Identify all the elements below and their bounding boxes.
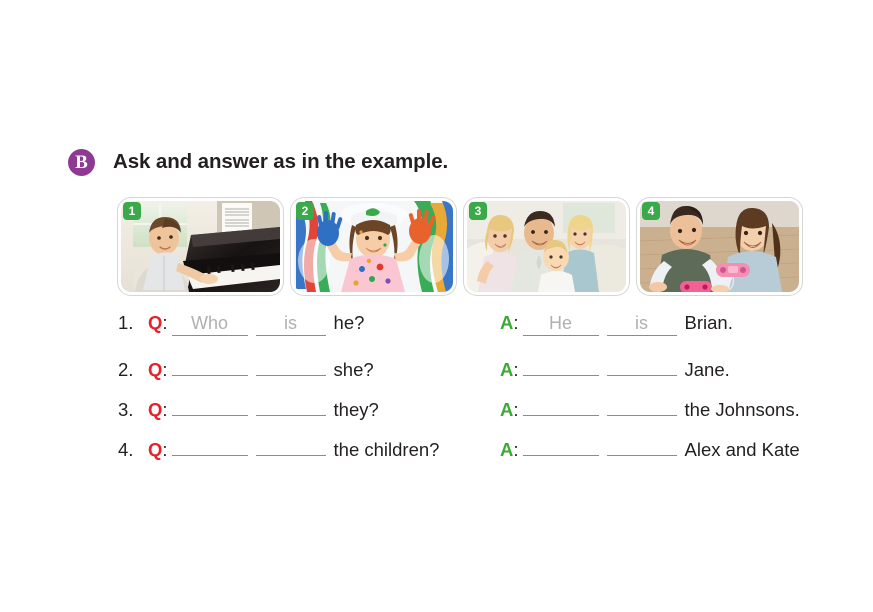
photo-art-boy-piano	[121, 201, 280, 292]
photo-number-badge-2: 2	[296, 202, 314, 220]
question-colon: :	[162, 359, 167, 381]
photo-inner-3	[467, 201, 626, 292]
question-colon: :	[162, 439, 167, 461]
picture-strip: 1	[118, 198, 802, 295]
question-marker: Q	[148, 359, 162, 381]
answer-blank-2[interactable]	[607, 432, 677, 456]
question-marker: Q	[148, 399, 162, 421]
answer-colon: :	[513, 312, 518, 334]
row-number: 4.	[118, 439, 148, 461]
answer-blank-2[interactable]: is	[607, 312, 677, 336]
answer-tail: the Johnsons.	[685, 399, 800, 421]
exercise-header: B Ask and answer as in the example.	[68, 146, 448, 178]
question-tail: they?	[334, 399, 379, 421]
question-colon: :	[162, 312, 167, 334]
photo-inner-2	[294, 201, 453, 292]
answer-blank-2[interactable]	[607, 392, 677, 416]
question-blank-2[interactable]	[256, 392, 326, 416]
answer-side-3: A : the Johnsons.	[500, 392, 800, 421]
row-number: 1.	[118, 312, 148, 334]
answer-side-2: A : Jane.	[500, 352, 730, 381]
qa-row-2: 2. Q : she? A : Jane.	[118, 352, 818, 392]
photo-card-3[interactable]: 3	[464, 198, 629, 295]
answer-tail: Brian.	[685, 312, 733, 334]
photo-art-family	[467, 201, 626, 292]
answer-side-4: A : Alex and Kate	[500, 432, 800, 461]
question-side-2: Q : she?	[148, 352, 500, 381]
qa-row-3: 3. Q : they? A : the Johnsons.	[118, 392, 818, 432]
photo-number-badge-4: 4	[642, 202, 660, 220]
photo-number-badge-3: 3	[469, 202, 487, 220]
qa-row-1: 1. Q : Who is he? A : He is Brian.	[118, 312, 818, 352]
answer-marker: A	[500, 399, 513, 421]
question-blank-1[interactable]	[172, 352, 248, 376]
answer-marker: A	[500, 439, 513, 461]
question-side-1: Q : Who is he?	[148, 312, 500, 336]
photo-art-kids-gaming	[640, 201, 799, 292]
question-colon: :	[162, 399, 167, 421]
question-blank-2[interactable]	[256, 352, 326, 376]
photo-inner-4	[640, 201, 799, 292]
question-side-3: Q : they?	[148, 392, 500, 421]
answer-blank-1[interactable]	[523, 352, 599, 376]
photo-card-4[interactable]: 4	[637, 198, 802, 295]
question-blank-2[interactable]: is	[256, 312, 326, 336]
question-blank-2[interactable]	[256, 432, 326, 456]
answer-tail: Alex and Kate	[685, 439, 800, 461]
question-marker: Q	[148, 439, 162, 461]
photo-art-girl-painting	[294, 201, 453, 292]
answer-marker: A	[500, 359, 513, 381]
exercise-title: Ask and answer as in the example.	[113, 150, 448, 174]
question-blank-1[interactable]: Who	[172, 312, 248, 336]
question-side-4: Q : the children?	[148, 432, 500, 461]
answer-blank-1[interactable]: He	[523, 312, 599, 336]
answer-colon: :	[513, 399, 518, 421]
photo-inner-1	[121, 201, 280, 292]
question-blank-1[interactable]	[172, 392, 248, 416]
question-marker: Q	[148, 312, 162, 334]
section-badge-b: B	[68, 149, 95, 176]
pink-controller-left	[680, 281, 712, 292]
answer-blank-1[interactable]	[523, 432, 599, 456]
question-tail: the children?	[334, 439, 440, 461]
qa-row-4: 4. Q : the children? A : Alex and Kate	[118, 432, 818, 472]
answer-side-1: A : He is Brian.	[500, 312, 733, 336]
answer-marker: A	[500, 312, 513, 334]
photo-card-2[interactable]: 2	[291, 198, 456, 295]
photo-card-1[interactable]: 1	[118, 198, 283, 295]
question-tail: she?	[334, 359, 374, 381]
answer-blank-2[interactable]	[607, 352, 677, 376]
answer-blank-1[interactable]	[523, 392, 599, 416]
photo-number-badge-1: 1	[123, 202, 141, 220]
answer-colon: :	[513, 439, 518, 461]
qa-block: 1. Q : Who is he? A : He is Brian. 2. Q …	[118, 312, 818, 472]
question-blank-1[interactable]	[172, 432, 248, 456]
question-tail: he?	[334, 312, 365, 334]
row-number: 2.	[118, 359, 148, 381]
answer-colon: :	[513, 359, 518, 381]
row-number: 3.	[118, 399, 148, 421]
answer-tail: Jane.	[685, 359, 730, 381]
